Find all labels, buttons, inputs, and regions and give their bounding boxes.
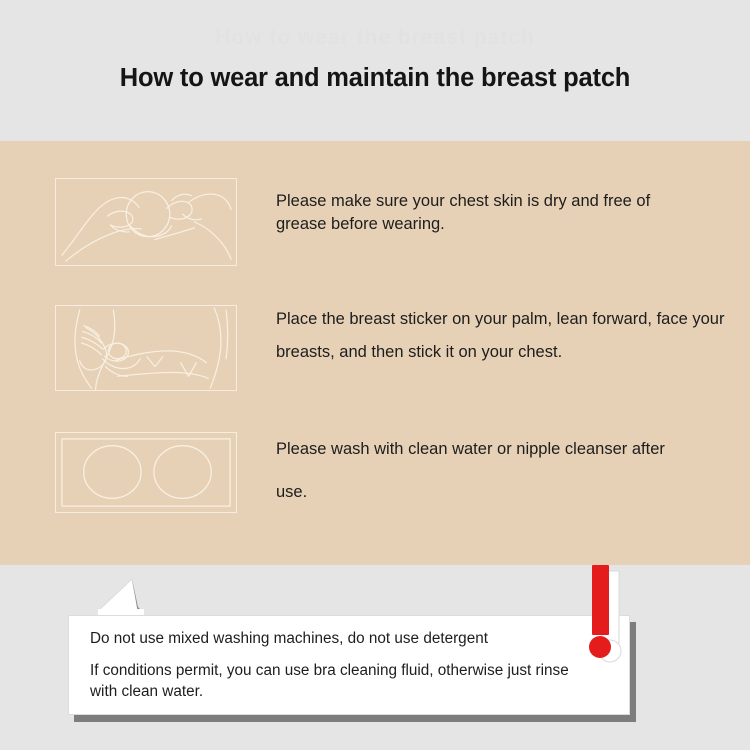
callout-box: Do not use mixed washing machines, do no… — [68, 615, 630, 715]
callout-text: Do not use mixed washing machines, do no… — [90, 628, 600, 702]
step-description: Please wash with clean water or nipple c… — [276, 428, 676, 514]
footer-section: Do not use mixed washing machines, do no… — [0, 565, 750, 750]
watermark-ghost-text: How to wear the breast patch — [0, 26, 750, 50]
step-description: Place the breast sticker on your palm, l… — [276, 303, 726, 369]
callout-line-2: If conditions permit, you can use bra cl… — [90, 660, 600, 702]
callout-line-1: Do not use mixed washing machines, do no… — [90, 628, 600, 649]
applying-patch-to-chest-illustration — [55, 305, 237, 391]
steps-panel: Please make sure your chest skin is dry … — [0, 141, 750, 565]
hands-holding-patch-illustration — [55, 178, 237, 266]
callout-tail — [98, 577, 158, 617]
exclamation-mark-icon — [582, 563, 642, 663]
warning-callout: Do not use mixed washing machines, do no… — [68, 615, 630, 715]
page-title: How to wear and maintain the breast patc… — [0, 64, 750, 93]
step-description: Please make sure your chest skin is dry … — [276, 190, 701, 236]
instruction-infographic: How to wear the breast patch How to wear… — [0, 0, 750, 750]
two-patches-washing-illustration — [55, 432, 237, 513]
header-section: How to wear the breast patch How to wear… — [0, 0, 750, 141]
